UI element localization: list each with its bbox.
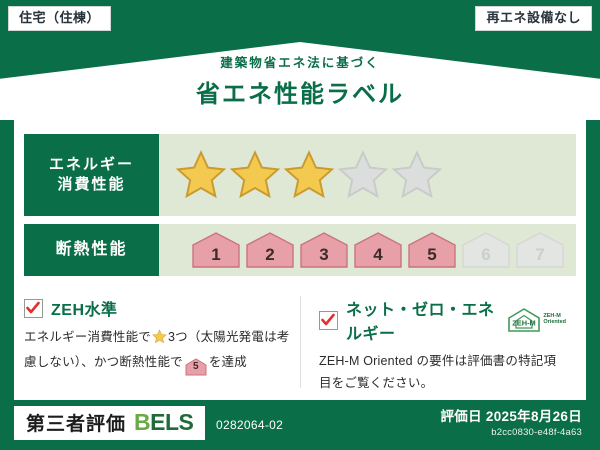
certificate-number: 0282064-02 [216,418,283,432]
star-filled-icon [229,149,281,201]
energy-performance-row: エネルギー 消費性能 [24,134,576,216]
criterion-zeh-header: ZEH水準 [24,296,290,320]
insulation-level-value: 6 [481,245,490,269]
renewable-equipment-tag: 再エネ設備なし [475,6,592,31]
bels-jp-text: 第三者評価 [26,409,126,436]
net-zero-checkbox[interactable] [319,311,338,330]
insulation-level-value: 7 [535,245,544,269]
building-type-tag: 住宅（住棟） [8,6,111,31]
zeh-text-before-star: エネルギー消費性能で [24,330,151,344]
net-zero-description: ZEH-M Oriented の要件は評価書の特記項目をご覧ください。 [319,351,566,395]
insulation-level-filled: 2 [245,231,295,269]
energy-row-label-line1: エネルギー [49,155,134,175]
insulation-level-empty: 7 [515,231,565,269]
inline-house-badge: 5 [185,358,207,374]
bels-logo: BELS [134,409,193,436]
energy-row-label-line2: 消費性能 [57,175,125,195]
insulation-performance-row: 断熱性能 1234567 [24,224,576,276]
criterion-nze-header: ネット・ゼロ・エネルギー ZEH-M ZEH-M Oriented [319,296,566,344]
insulation-level-filled: 4 [353,231,403,269]
bels-logo-first: B [134,409,150,435]
insulation-level-filled: 5 [407,231,457,269]
evaluation-date: 評価日 2025年8月26日 [440,405,582,425]
page-title: 建築物省エネ法に基づく 省エネ性能ラベル [0,52,600,109]
energy-performance-label: 住宅（住棟） 再エネ設備なし 建築物省エネ法に基づく 省エネ性能ラベル エネルギ… [0,0,600,450]
insulation-level-value: 1 [211,245,220,269]
insulation-level-filled: 1 [191,231,241,269]
zeh-title: ZEH水準 [51,296,118,320]
net-zero-title: ネット・ゼロ・エネルギー [346,296,495,344]
label-footer: 第三者評価 BELS 0282064-02 評価日 2025年8月26日 b2c… [0,400,600,450]
insulation-level-value: 5 [427,245,436,269]
criterion-zeh-standard: ZEH水準 エネルギー消費性能で3つ（太陽光発電は考慮しない）、かつ断熱性能で5… [24,296,300,388]
title-subtitle: 建築物省エネ法に基づく [0,52,600,71]
inline-house-value: 5 [185,358,207,376]
zeh-checkbox[interactable] [24,299,43,318]
insulation-row-label: 断熱性能 [24,224,159,276]
document-hash: b2cc0830-e48f-4a63 [440,427,582,438]
energy-row-label: エネルギー 消費性能 [24,134,159,216]
insulation-level-filled: 3 [299,231,349,269]
bels-badge: 第三者評価 BELS [14,406,205,440]
svg-text:ZEH-M: ZEH-M [513,319,536,328]
star-filled-icon [175,149,227,201]
star-filled-icon [283,149,335,201]
criteria-section: ZEH水準 エネルギー消費性能で3つ（太陽光発電は考慮しない）、かつ断熱性能で5… [24,296,576,388]
criterion-net-zero-energy: ネット・ゼロ・エネルギー ZEH-M ZEH-M Oriented ZEH-M … [300,296,576,388]
insulation-level-value: 4 [373,245,382,269]
insulation-level-value: 3 [319,245,328,269]
zeh-text-end: を達成 [209,355,247,369]
insulation-level-empty: 6 [461,231,511,269]
star-empty-icon [337,149,389,201]
zeh-m-badge: ZEH-M ZEH-M Oriented [507,307,566,333]
footer-right-info: 評価日 2025年8月26日 b2cc0830-e48f-4a63 [440,405,582,438]
zeh-description: エネルギー消費性能で3つ（太陽光発電は考慮しない）、かつ断熱性能で5を達成 [24,327,290,374]
insulation-level-value: 2 [265,245,274,269]
insulation-level-scale: 1234567 [159,224,576,276]
star-empty-icon [391,149,443,201]
inline-star-icon [152,333,167,347]
star-rating [159,134,576,216]
zeh-m-badge-sub2: Oriented [543,320,566,326]
bels-logo-rest: ELS [150,409,193,435]
title-main: 省エネ性能ラベル [0,74,600,109]
